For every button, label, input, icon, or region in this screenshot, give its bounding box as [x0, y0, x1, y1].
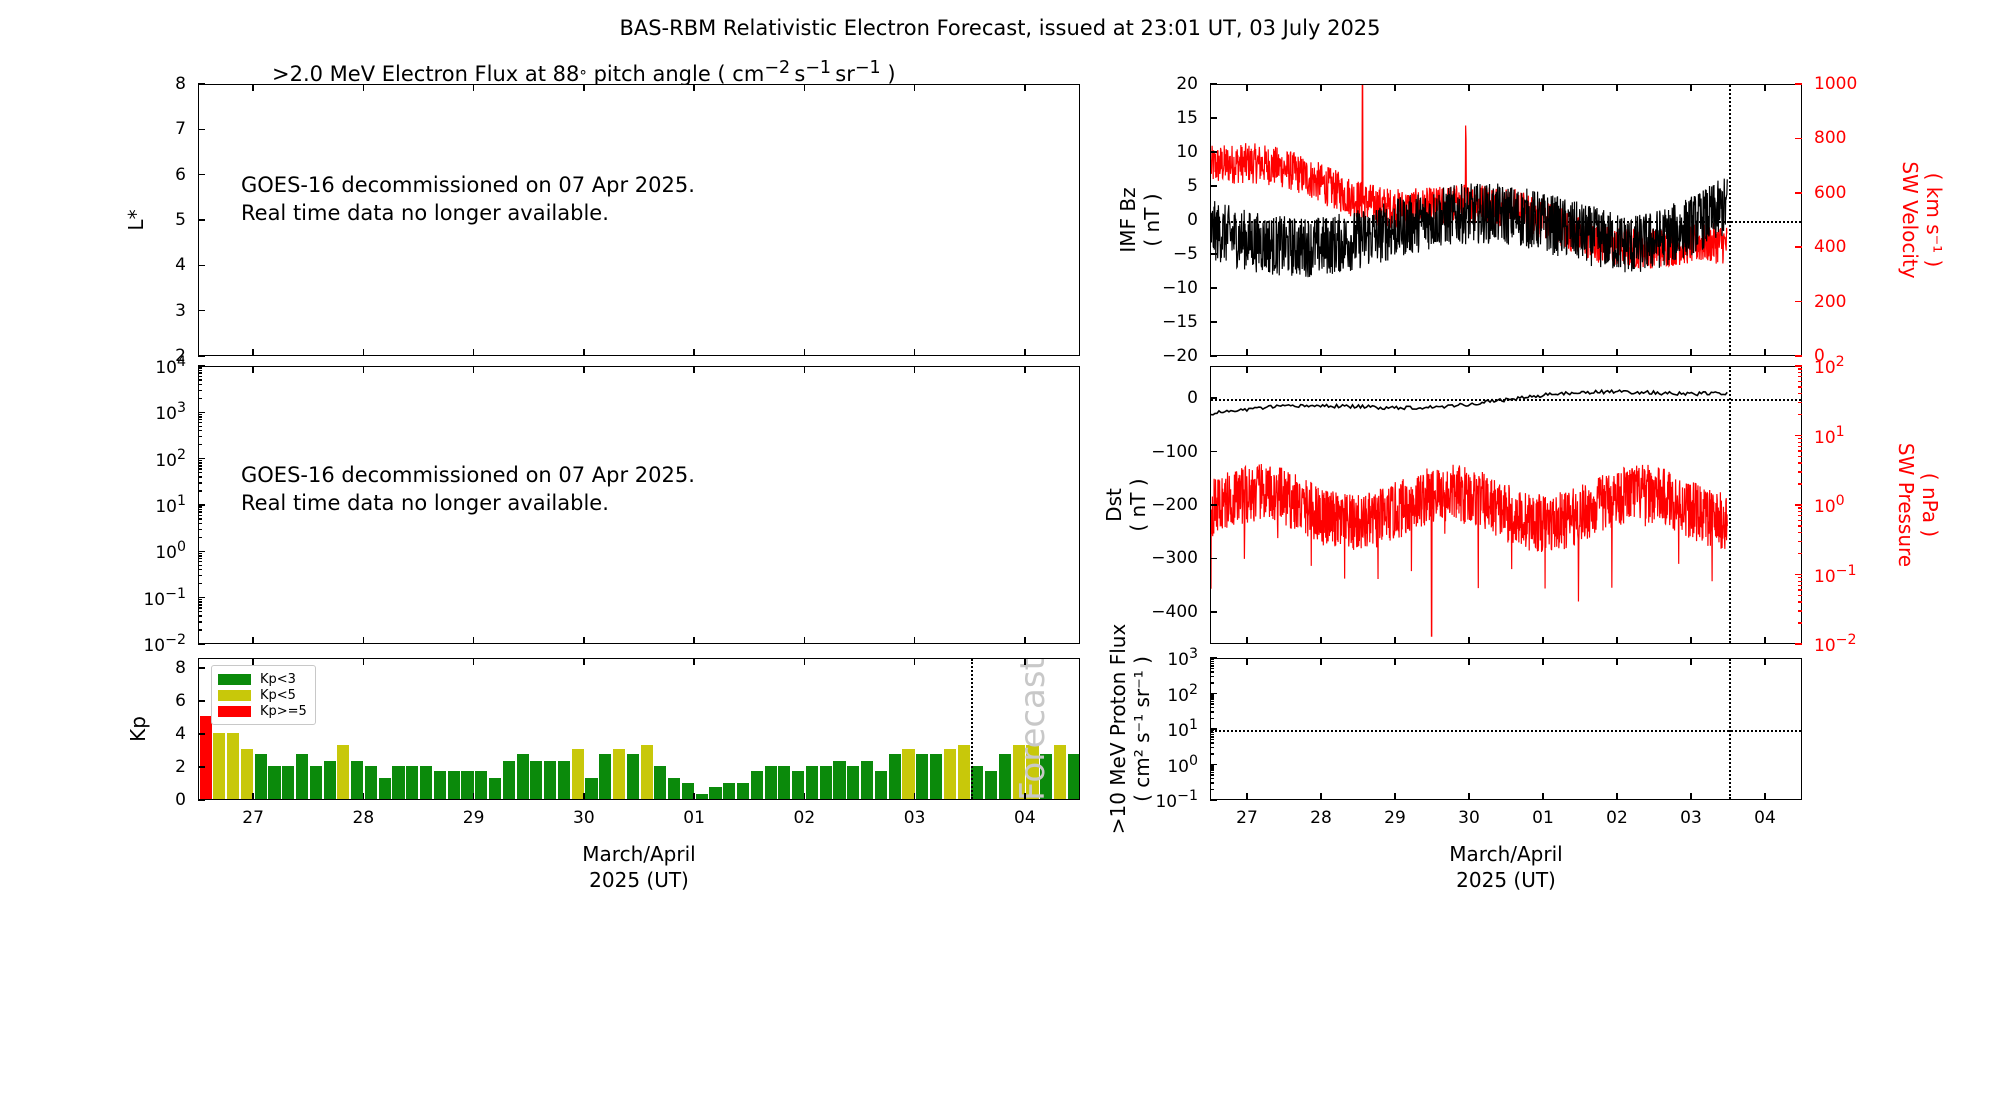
tick-mark — [1468, 84, 1470, 91]
tick-mark — [198, 265, 205, 267]
axis-tick-label: 800 — [1814, 128, 1846, 148]
x-tick-label: 03 — [904, 808, 926, 828]
tick-mark-minor — [1798, 585, 1802, 586]
tick-mark-minor — [1210, 718, 1214, 719]
tick-mark-minor — [1210, 698, 1214, 699]
tick-mark-minor — [1798, 402, 1802, 403]
axis-tick-label: 101 — [1167, 717, 1198, 741]
kp-bar — [461, 771, 473, 799]
lstar-axis-title: L* — [124, 209, 148, 230]
x-tick-label: 27 — [242, 808, 264, 828]
kp-bar — [765, 766, 777, 799]
tick-mark-minor — [1210, 694, 1214, 695]
tick-mark-minor — [1210, 789, 1214, 790]
tick-mark — [1024, 366, 1026, 373]
tick-mark — [804, 793, 806, 800]
axis-tick-label: 20 — [1176, 74, 1198, 94]
tick-mark-minor — [1798, 386, 1802, 387]
tick-mark-minor — [198, 476, 202, 477]
tick-mark-minor — [198, 460, 202, 461]
tick-mark — [914, 658, 916, 665]
tick-mark-minor — [1210, 711, 1214, 712]
tick-mark — [1690, 84, 1692, 91]
axis-tick-label: −15 — [1162, 312, 1198, 332]
tick-mark — [198, 733, 205, 735]
kp-bar — [475, 771, 487, 799]
tick-mark-minor — [198, 482, 202, 483]
tick-mark-minor — [198, 518, 202, 519]
tick-mark — [804, 366, 806, 373]
tick-mark — [1246, 349, 1248, 356]
tick-mark — [198, 129, 205, 131]
tick-mark-minor — [1798, 462, 1802, 463]
tick-mark — [1690, 658, 1692, 665]
kp-bar — [1054, 745, 1066, 799]
tick-mark — [252, 637, 254, 644]
tick-mark-minor — [1798, 442, 1802, 443]
kp-bar — [365, 766, 377, 799]
tick-mark-minor — [198, 621, 202, 622]
axis-tick-label: 8 — [175, 74, 186, 94]
tick-mark-minor — [198, 414, 202, 415]
tick-mark — [1616, 366, 1618, 373]
flux-no-data-message: GOES-16 decommissioned on 07 Apr 2025. R… — [241, 461, 695, 518]
tick-mark-minor — [1210, 736, 1214, 737]
imf-bz-trace — [1211, 179, 1727, 278]
x-tick-label: 29 — [1384, 808, 1406, 828]
tick-mark-minor — [1798, 393, 1802, 394]
x-tick-label: 29 — [463, 808, 485, 828]
x-tick-label: 03 — [1680, 808, 1702, 828]
axis-tick-label: 102 — [1814, 354, 1845, 378]
tick-mark-minor — [198, 419, 202, 420]
kp-bar — [696, 794, 708, 799]
kp-xaxis-title-line2: 2025 (UT) — [589, 868, 689, 892]
kp-bar — [296, 754, 308, 799]
tick-mark — [1210, 253, 1217, 255]
tick-mark — [804, 349, 806, 356]
kp-bar — [723, 783, 735, 800]
bz-velocity-traces — [1211, 85, 1801, 355]
proton-threshold-line — [1211, 730, 1801, 732]
tick-mark-minor — [1210, 739, 1214, 740]
tick-mark — [1542, 84, 1544, 91]
tick-mark — [1616, 84, 1618, 91]
tick-mark-minor — [1798, 589, 1802, 590]
proton-xaxis-title-line2: 2025 (UT) — [1456, 868, 1556, 892]
axis-tick-label: 10−1 — [143, 586, 186, 610]
tick-mark-minor — [198, 607, 202, 608]
axis-tick-label: 102 — [155, 447, 186, 471]
kp-bar — [833, 761, 845, 799]
tick-mark — [198, 219, 205, 221]
tick-mark — [1024, 84, 1026, 91]
tick-mark — [914, 793, 916, 800]
tick-mark-minor — [1210, 782, 1214, 783]
tick-mark — [583, 349, 585, 356]
axis-tick-label: −400 — [1151, 602, 1198, 622]
axis-tick-label: 200 — [1814, 292, 1846, 312]
kp-bar — [944, 749, 956, 799]
kp-bar — [517, 754, 529, 799]
tick-mark — [1542, 658, 1544, 665]
kp-bar — [227, 733, 239, 799]
tick-mark — [1210, 117, 1217, 119]
kp-bar — [930, 754, 942, 799]
kp-bar — [503, 761, 515, 799]
axis-tick-label: −10 — [1162, 278, 1198, 298]
tick-mark-minor — [1798, 507, 1802, 508]
tick-mark-minor — [198, 575, 202, 576]
dst-forecast-divider-line — [1729, 367, 1731, 643]
tick-mark — [1542, 366, 1544, 373]
tick-mark-minor — [1798, 450, 1802, 451]
tick-mark-minor — [198, 553, 202, 554]
tick-mark — [1690, 349, 1692, 356]
tick-mark — [1468, 637, 1470, 644]
tick-mark-minor — [198, 565, 202, 566]
tick-mark-minor — [198, 422, 202, 423]
kp-bar — [682, 783, 694, 800]
tick-mark-minor — [1210, 772, 1214, 773]
tick-mark-minor — [198, 370, 202, 371]
x-tick-label: 27 — [1236, 808, 1258, 828]
tick-mark — [1795, 83, 1802, 85]
kp-bar — [958, 745, 970, 799]
tick-mark — [914, 84, 916, 91]
tick-mark — [1320, 349, 1322, 356]
tick-mark — [1024, 637, 1026, 644]
tick-mark — [1024, 349, 1026, 356]
tick-mark — [252, 349, 254, 356]
tick-mark — [1795, 301, 1802, 303]
tick-mark-minor — [198, 569, 202, 570]
tick-mark — [1795, 504, 1802, 506]
tick-mark — [914, 366, 916, 373]
tick-mark — [1210, 611, 1217, 613]
tick-mark — [198, 766, 205, 768]
kp-bar — [861, 761, 873, 799]
kp-bar — [585, 778, 597, 799]
kp-legend-label: Kp<3 — [260, 672, 296, 687]
kp-legend-label: Kp>=5 — [260, 704, 307, 719]
tick-mark-minor — [198, 558, 202, 559]
x-tick-label: 02 — [794, 808, 816, 828]
tick-mark-minor — [1210, 742, 1214, 743]
tick-mark-minor — [1210, 703, 1214, 704]
panel-lstar: GOES-16 decommissioned on 07 Apr 2025. R… — [198, 84, 1080, 356]
x-tick-label: 28 — [1310, 808, 1332, 828]
tick-mark-minor — [198, 367, 202, 368]
kp-legend-row: Kp>=5 — [218, 703, 307, 719]
tick-mark — [198, 643, 205, 645]
panel-kp: Forecast Kp<3Kp<5Kp>=5 — [198, 658, 1080, 800]
tick-mark — [1616, 637, 1618, 644]
kp-bar — [489, 778, 501, 799]
axis-tick-label: 7 — [175, 119, 186, 139]
bz-axis-title: ( nT ) — [1140, 193, 1164, 246]
axis-tick-label: 100 — [1167, 753, 1198, 777]
tick-mark — [252, 658, 254, 665]
tick-mark — [252, 84, 254, 91]
tick-mark — [1764, 366, 1766, 373]
tick-mark — [1320, 366, 1322, 373]
proton-forecast-divider-line — [1729, 659, 1731, 799]
axis-tick-label: −5 — [1173, 244, 1198, 264]
tick-mark-minor — [198, 390, 202, 391]
tick-mark — [363, 793, 365, 800]
tick-mark-minor — [198, 444, 202, 445]
tick-mark — [1690, 637, 1692, 644]
kp-bar — [406, 766, 418, 799]
kp-bar — [530, 761, 542, 799]
tick-mark — [1542, 793, 1544, 800]
tick-mark-minor — [1798, 483, 1802, 484]
kp-bar — [751, 771, 763, 799]
tick-mark-minor — [198, 601, 202, 602]
kp-bar — [558, 761, 570, 799]
tick-mark-minor — [198, 523, 202, 524]
axis-tick-label: 3 — [175, 301, 186, 321]
tick-mark-minor — [198, 398, 202, 399]
tick-mark — [198, 174, 205, 176]
axis-tick-label: 1000 — [1814, 74, 1857, 94]
axis-tick-label: 0 — [1187, 388, 1198, 408]
kp-bar — [613, 749, 625, 799]
tick-mark — [1764, 658, 1766, 665]
tick-mark-minor — [198, 472, 202, 473]
kp-bar — [310, 766, 322, 799]
tick-mark — [363, 658, 365, 665]
tick-mark-minor — [1798, 577, 1802, 578]
kp-bar — [544, 761, 556, 799]
tick-mark — [1795, 435, 1802, 437]
tick-mark — [1320, 637, 1322, 644]
tick-mark-minor — [1210, 734, 1214, 735]
tick-mark-minor — [1210, 747, 1214, 748]
axis-tick-label: 0 — [1187, 210, 1198, 230]
kp-bar — [392, 766, 404, 799]
tick-mark-minor — [1210, 696, 1214, 697]
tick-mark-minor — [1798, 541, 1802, 542]
tick-mark — [693, 366, 695, 373]
tick-mark — [1246, 637, 1248, 644]
tick-mark-minor — [1210, 668, 1214, 669]
tick-mark — [473, 349, 475, 356]
tick-mark-minor — [198, 468, 202, 469]
tick-mark-minor — [1210, 707, 1214, 708]
tick-mark — [1394, 349, 1396, 356]
tick-mark — [1764, 793, 1766, 800]
tick-mark-minor — [1210, 732, 1214, 733]
tick-mark-minor — [198, 604, 202, 605]
tick-mark-minor — [1798, 446, 1802, 447]
axis-tick-label: 103 — [155, 401, 186, 425]
axis-tick-label: 5 — [1187, 176, 1198, 196]
tick-mark-minor — [1798, 511, 1802, 512]
axis-tick-label: 102 — [1167, 682, 1198, 706]
tick-mark-minor — [198, 384, 202, 385]
axis-tick-label: 10−1 — [1155, 788, 1198, 812]
tick-mark-minor — [1798, 438, 1802, 439]
tick-mark-minor — [198, 490, 202, 491]
tick-mark-minor — [1210, 701, 1214, 702]
tick-mark-minor — [198, 372, 202, 373]
proton-xaxis-title-line1: March/April — [1449, 842, 1562, 866]
tick-mark-minor — [1210, 730, 1214, 731]
panel-electron-flux: GOES-16 decommissioned on 07 Apr 2025. R… — [198, 366, 1080, 644]
axis-tick-label: 5 — [175, 210, 186, 230]
tick-mark-minor — [1798, 553, 1802, 554]
tick-mark-minor — [198, 376, 202, 377]
axis-tick-label: 10−1 — [1814, 563, 1857, 587]
figure-suptitle: BAS-RBM Relativistic Electron Forecast, … — [0, 16, 2000, 40]
tick-mark — [1468, 658, 1470, 665]
tick-mark — [1542, 349, 1544, 356]
tick-mark-minor — [1798, 525, 1802, 526]
tick-mark — [1795, 574, 1802, 576]
tick-mark — [1320, 793, 1322, 800]
tick-mark — [1246, 658, 1248, 665]
tick-mark — [583, 366, 585, 373]
kp-bar — [847, 766, 859, 799]
tick-mark-minor — [1798, 601, 1802, 602]
kp-bar — [999, 754, 1011, 799]
kp-legend-row: Kp<5 — [218, 687, 307, 703]
kp-bar — [820, 766, 832, 799]
tick-mark — [1795, 643, 1802, 645]
kp-bar — [599, 754, 611, 799]
kp-bar — [420, 766, 432, 799]
axis-tick-label: 10 — [1176, 142, 1198, 162]
kp-bar — [572, 749, 584, 799]
tick-mark-minor — [1798, 414, 1802, 415]
tick-mark — [1210, 321, 1217, 323]
tick-mark-minor — [1798, 515, 1802, 516]
tick-mark — [1764, 637, 1766, 644]
tick-mark — [473, 793, 475, 800]
sw-pressure-axis-title: SW Pressure — [1894, 443, 1918, 567]
tick-mark-minor — [198, 611, 202, 612]
kp-legend-label: Kp<5 — [260, 688, 296, 703]
tick-mark-minor — [1210, 682, 1214, 683]
tick-mark — [1795, 138, 1802, 140]
kp-bar — [200, 716, 212, 799]
sw-pressure-axis-title: ( nPa ) — [1918, 473, 1942, 537]
tick-mark-minor — [198, 416, 202, 417]
tick-mark — [914, 637, 916, 644]
axis-tick-label: 101 — [155, 493, 186, 517]
tick-mark — [1795, 355, 1802, 357]
axis-tick-label: 8 — [175, 658, 186, 678]
tick-mark — [473, 366, 475, 373]
tick-mark-minor — [198, 379, 202, 380]
subtitle-text: >2.0 MeV Electron Flux at 88° pitch angl… — [272, 62, 896, 86]
tick-mark — [693, 349, 695, 356]
kp-bar — [916, 754, 928, 799]
kp-bar — [337, 745, 349, 799]
axis-tick-label: 0 — [175, 790, 186, 810]
dst-axis-title: ( nT ) — [1126, 478, 1150, 531]
kp-xaxis-title-line1: March/April — [582, 842, 695, 866]
tick-mark — [1210, 397, 1217, 399]
kp-legend-swatch — [218, 674, 251, 685]
tick-mark-minor — [198, 462, 202, 463]
axis-tick-label: 103 — [1167, 646, 1198, 670]
axis-tick-label: 400 — [1814, 237, 1846, 257]
tick-mark-minor — [1798, 610, 1802, 611]
kp-bar — [448, 771, 460, 799]
x-tick-label: 01 — [683, 808, 705, 828]
kp-bar — [654, 766, 666, 799]
tick-mark — [363, 637, 365, 644]
tick-mark-minor — [198, 465, 202, 466]
axis-tick-label: 10−2 — [1814, 632, 1857, 656]
tick-mark-minor — [198, 615, 202, 616]
tick-mark — [1690, 793, 1692, 800]
tick-mark — [693, 637, 695, 644]
axis-tick-label: −20 — [1162, 346, 1198, 366]
tick-mark-minor — [198, 430, 202, 431]
tick-mark-minor — [1210, 659, 1214, 660]
tick-mark-minor — [198, 509, 202, 510]
axis-tick-label: 2 — [175, 757, 186, 777]
kp-bar — [213, 733, 225, 799]
kp-bar — [241, 749, 253, 799]
axis-tick-label: −100 — [1151, 442, 1198, 462]
electron-flux-subtitle: >2.0 MeV Electron Flux at 88° pitch angl… — [272, 58, 896, 86]
kp-bar — [709, 787, 721, 799]
kp-bar — [324, 761, 336, 799]
tick-mark — [473, 637, 475, 644]
tick-mark — [1246, 84, 1248, 91]
tick-mark — [198, 667, 205, 669]
kp-axis-title: Kp — [126, 716, 150, 742]
tick-mark — [1542, 637, 1544, 644]
tick-mark — [198, 355, 205, 357]
tick-mark-minor — [1798, 372, 1802, 373]
tick-mark-minor — [1210, 671, 1214, 672]
tick-mark-minor — [1798, 520, 1802, 521]
x-tick-label: 04 — [1014, 808, 1036, 828]
tick-mark — [1394, 84, 1396, 91]
tick-mark — [693, 84, 695, 91]
bz-forecast-divider-line — [1729, 85, 1731, 355]
axis-tick-label: 10−2 — [143, 632, 186, 656]
tick-mark-minor — [198, 561, 202, 562]
tick-mark — [1468, 366, 1470, 373]
proton-flux-axis-title: ( cm² s⁻¹ sr⁻¹ ) — [1130, 656, 1154, 802]
tick-mark — [583, 658, 585, 665]
tick-mark — [1394, 637, 1396, 644]
tick-mark — [363, 84, 365, 91]
kp-bar — [806, 766, 818, 799]
axis-tick-label: 600 — [1814, 183, 1846, 203]
tick-mark — [1210, 451, 1217, 453]
proton-flux-axis-title: >10 MeV Proton Flux — [1106, 624, 1130, 835]
tick-mark-minor — [1798, 595, 1802, 596]
axis-tick-label: −200 — [1151, 495, 1198, 515]
tick-mark-minor — [1798, 532, 1802, 533]
tick-mark-minor — [1210, 753, 1214, 754]
tick-mark — [804, 658, 806, 665]
forecast-divider-line — [971, 659, 973, 799]
panel-imf-bz-sw-velocity — [1210, 84, 1802, 356]
axis-tick-label: 101 — [1814, 424, 1845, 448]
tick-mark-minor — [198, 515, 202, 516]
tick-mark-minor — [1210, 769, 1214, 770]
kp-bar — [737, 783, 749, 800]
